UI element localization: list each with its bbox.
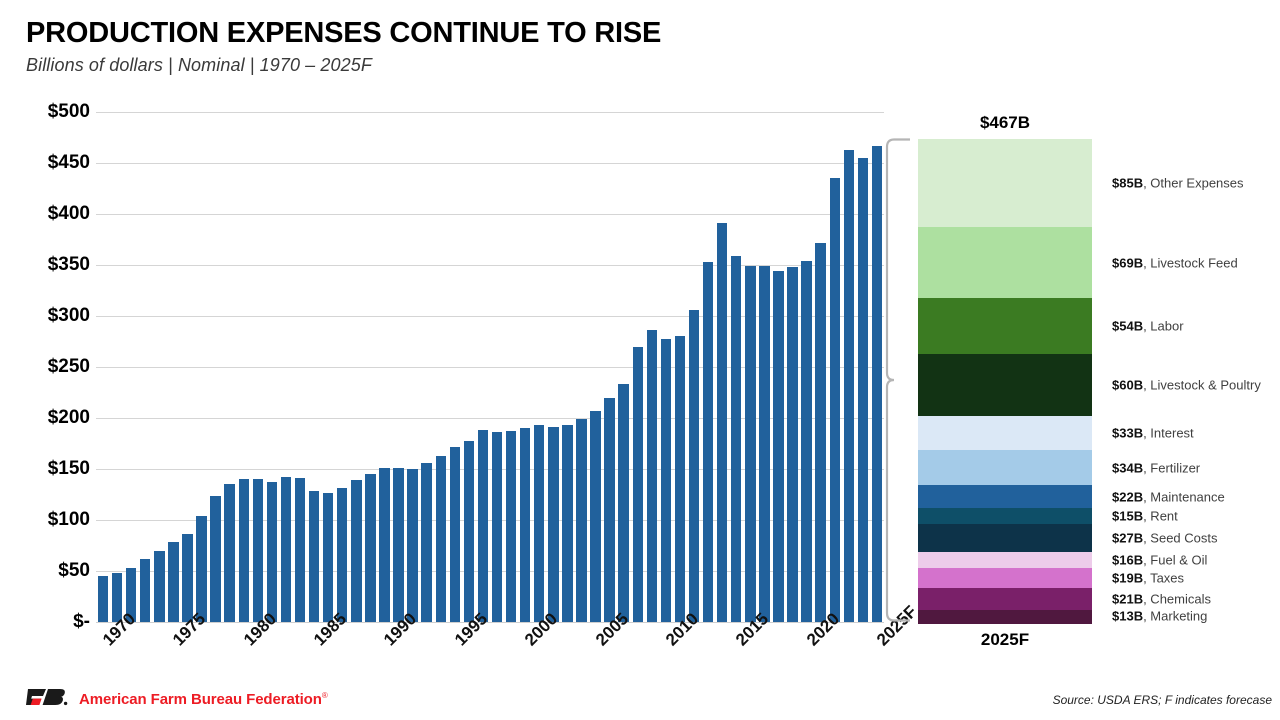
legend-item: $22B, Maintenance (1112, 489, 1225, 504)
legend-item-label: , Other Expenses (1143, 175, 1243, 190)
legend-item-value: $33B (1112, 426, 1143, 441)
stack-segment (918, 298, 1092, 354)
stack-segment (918, 508, 1092, 524)
stack-total-label: $467B (918, 113, 1092, 133)
x-axis-tick-label: 1985 (310, 609, 351, 650)
legend-item-value: $54B (1112, 319, 1143, 334)
legend-item: $21B, Chemicals (1112, 591, 1211, 606)
stack-segment (918, 354, 1092, 417)
stack-segment (918, 610, 1092, 624)
legend-item-value: $69B (1112, 255, 1143, 270)
bracket-icon (884, 138, 910, 622)
stack-segment (918, 568, 1092, 588)
legend-item-label: , Fuel & Oil (1143, 552, 1207, 567)
x-axis-tick-label: 2010 (662, 609, 703, 650)
legend-item: $54B, Labor (1112, 319, 1184, 334)
stack-segment (918, 139, 1092, 228)
x-axis-tick-label: 1975 (169, 609, 210, 650)
stack-segment (918, 524, 1092, 553)
brand-name-text: American Farm Bureau Federation (79, 691, 322, 708)
legend: $85B, Other Expenses$69B, Livestock Feed… (1112, 139, 1280, 622)
legend-item-label: , Maintenance (1143, 489, 1225, 504)
legend-item: $13B, Marketing (1112, 609, 1207, 624)
legend-item: $69B, Livestock Feed (1112, 255, 1238, 270)
legend-item-label: , Livestock & Poultry (1143, 378, 1261, 393)
legend-item: $19B, Taxes (1112, 571, 1184, 586)
legend-item: $34B, Fertilizer (1112, 460, 1200, 475)
x-axis-tick-label: 2005 (592, 609, 633, 650)
legend-item-label: , Chemicals (1143, 591, 1211, 606)
x-axis-tick-label: 1995 (451, 609, 492, 650)
legend-item-label: , Taxes (1143, 571, 1184, 586)
brand-footer: American Farm Bureau Federation® (26, 686, 328, 712)
legend-item-value: $22B (1112, 489, 1143, 504)
x-axis-tick-label: 2000 (521, 609, 562, 650)
x-axis-tick-label: 1970 (99, 609, 140, 650)
legend-item: $16B, Fuel & Oil (1112, 552, 1207, 567)
legend-item-value: $16B (1112, 552, 1143, 567)
legend-item-value: $19B (1112, 571, 1143, 586)
legend-item: $85B, Other Expenses (1112, 175, 1244, 190)
source-note: Source: USDA ERS; F indicates forecase (1053, 693, 1272, 707)
stack-category-label: 2025F (918, 630, 1092, 650)
legend-item: $15B, Rent (1112, 508, 1178, 523)
legend-item: $33B, Interest (1112, 426, 1194, 441)
legend-item-value: $15B (1112, 508, 1143, 523)
legend-item-label: , Labor (1143, 319, 1183, 334)
stacked-bar (918, 139, 1092, 622)
stack-segment (918, 552, 1092, 569)
stack-segment (918, 588, 1092, 610)
stack-segment (918, 416, 1092, 451)
x-axis-tick-label: 1980 (240, 609, 281, 650)
legend-item-label: , Marketing (1143, 609, 1207, 624)
legend-item-label: , Livestock Feed (1143, 255, 1238, 270)
legend-item-value: $21B (1112, 591, 1143, 606)
legend-item-label: , Rent (1143, 508, 1178, 523)
legend-item: $27B, Seed Costs (1112, 530, 1218, 545)
x-axis-tick-label: 1990 (380, 609, 421, 650)
x-axis-tick-label: 2015 (732, 609, 773, 650)
legend-item-value: $27B (1112, 530, 1143, 545)
brand-name: American Farm Bureau Federation® (79, 691, 328, 708)
legend-item-value: $60B (1112, 378, 1143, 393)
legend-item-value: $85B (1112, 175, 1143, 190)
fb-logo-icon (26, 686, 68, 712)
legend-item-label: , Seed Costs (1143, 530, 1217, 545)
legend-item-value: $13B (1112, 609, 1143, 624)
stack-segment (918, 450, 1092, 486)
legend-item-label: , Fertilizer (1143, 460, 1200, 475)
x-axis-tick-label: 2020 (803, 609, 844, 650)
stack-segment (918, 485, 1092, 508)
stack-segment (918, 227, 1092, 299)
legend-item-value: $34B (1112, 460, 1143, 475)
registered-mark: ® (322, 691, 328, 700)
legend-item: $60B, Livestock & Poultry (1112, 378, 1261, 393)
legend-item-label: , Interest (1143, 426, 1194, 441)
